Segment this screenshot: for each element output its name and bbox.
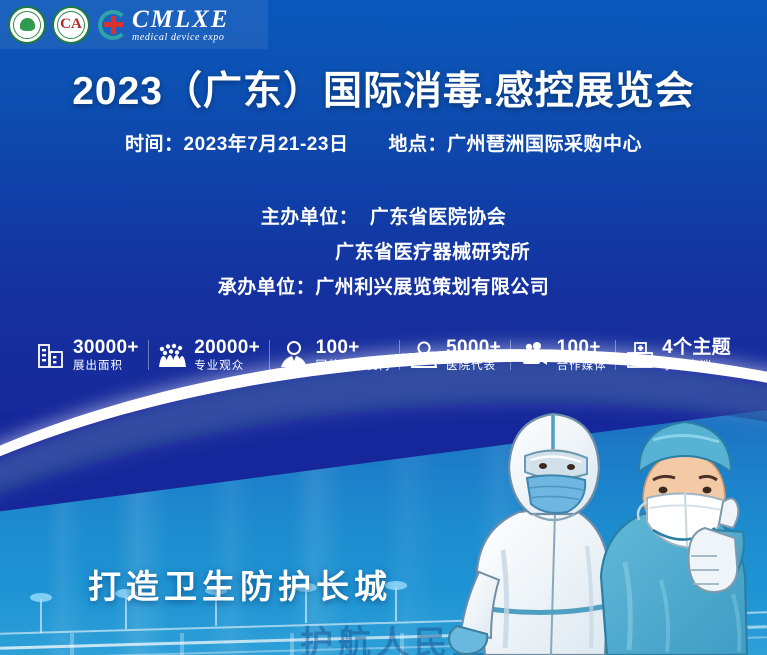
medical-cross-icon	[98, 10, 128, 40]
ca-emblem: CA	[52, 6, 90, 44]
stat-text: 100+ 合作媒体	[557, 338, 607, 373]
stat-text: 30000+ 展出面积	[73, 338, 139, 373]
organizer-line: 广东省医疗器械研究所	[0, 235, 767, 270]
organizer-block: 主办单位： 广东省医院协会 广东省医疗器械研究所 承办单位：广州利兴展览策划有限…	[0, 200, 767, 305]
organizer-line: 主办单位： 广东省医院协会	[0, 200, 767, 235]
businessman-icon	[279, 340, 309, 370]
stat-divider	[399, 340, 400, 370]
stat-text: 5000+ 医院代表	[446, 338, 501, 373]
stat-divider	[269, 340, 270, 370]
bridge-pier	[180, 633, 184, 655]
bridge-pier	[70, 633, 74, 655]
stats-bar: 30000+ 展出面积 20000+ 专业观众	[30, 333, 737, 377]
page-title: 2023（广东）国际消毒.感控展览会	[0, 60, 767, 116]
stat-divider	[510, 340, 511, 370]
two-medical-workers-illustration	[447, 380, 767, 655]
date-value: 2023年7月21-23日	[184, 134, 349, 155]
stat-caption: 国外驻华机构	[316, 361, 391, 373]
stat-media-partners: 100+ 合作媒体	[514, 338, 613, 373]
stat-divider	[148, 340, 149, 370]
bridge-pier	[290, 633, 294, 655]
date-label: 时间：	[125, 134, 184, 155]
emblem-ring	[13, 11, 41, 39]
stat-professional-visitors: 20000+ 专业观众	[151, 338, 266, 373]
guangdong-hospital-association-emblem	[8, 6, 46, 44]
stat-caption: 医院代表	[446, 361, 501, 373]
bridge-lamp	[40, 599, 42, 633]
organizer-line: 承办单位：广州利兴展览策划有限公司	[0, 270, 767, 305]
stat-academic-themes: 4个主题 学术会议	[619, 338, 737, 373]
stat-number: 5000+	[446, 338, 501, 357]
stat-number: 4个主题	[662, 338, 731, 357]
hospital-icon	[625, 340, 655, 370]
cmlxe-wordmark: CMLXE medical device expo	[132, 7, 230, 43]
stat-text: 4个主题 学术会议	[662, 338, 731, 373]
stat-number: 20000+	[194, 338, 260, 357]
stat-text: 20000+ 专业观众	[194, 338, 260, 373]
venue-label: 地点：	[388, 134, 447, 155]
stat-caption: 合作媒体	[557, 361, 607, 373]
primary-slogan: 打造卫生防护长城	[88, 560, 392, 608]
date-venue-line: 时间：2023年7月21-23日地点：广州琶洲国际采购中心	[0, 129, 767, 156]
building-icon	[36, 340, 66, 370]
stat-hospital-representatives: 5000+ 医院代表	[403, 338, 507, 373]
stat-number: 30000+	[73, 338, 139, 357]
stat-caption: 专业观众	[194, 361, 260, 373]
emblem-ring	[57, 11, 85, 39]
stat-number: 100+	[316, 338, 391, 357]
worker-blue-scrubs	[601, 422, 747, 655]
exhibition-poster: 护航人民生命健康	[0, 0, 767, 655]
stat-divider	[615, 340, 616, 370]
stat-caption: 学术会议	[662, 361, 731, 373]
stat-exhibition-area: 30000+ 展出面积	[30, 338, 145, 373]
stat-text: 100+ 国外驻华机构	[316, 338, 391, 373]
video-camera-icon	[520, 340, 550, 370]
worker-white-ppe	[449, 414, 609, 655]
cmlxe-tagline: medical device expo	[132, 33, 230, 43]
cross-horizontal	[104, 22, 123, 27]
stat-caption: 展出面积	[73, 361, 139, 373]
crowd-icon	[157, 340, 187, 370]
doctor-icon	[409, 340, 439, 370]
stat-foreign-agencies: 100+ 国外驻华机构	[273, 338, 397, 373]
venue-value: 广州琶洲国际采购中心	[447, 134, 642, 155]
logo-strip: CA CMLXE medical device expo	[0, 0, 268, 49]
cmlxe-name: CMLXE	[132, 7, 230, 32]
cmlxe-logo: CMLXE medical device expo	[98, 7, 230, 43]
stat-number: 100+	[557, 338, 607, 357]
